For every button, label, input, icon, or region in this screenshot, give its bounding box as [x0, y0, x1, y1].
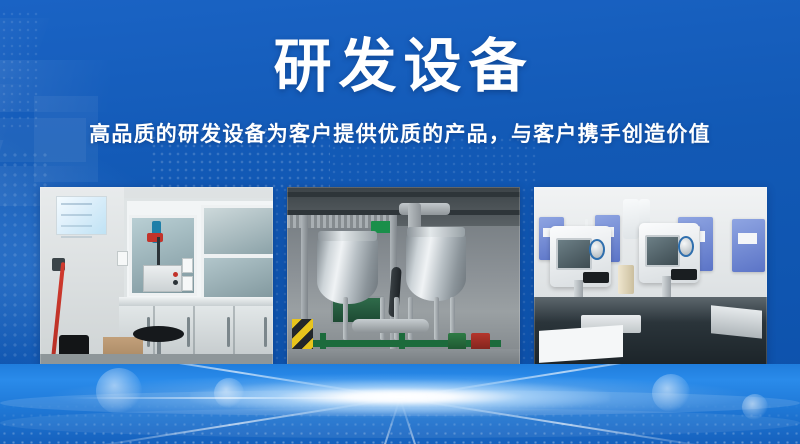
page-subtitle: 高品质的研发设备为客户提供优质的产品，与客户携手创造价值	[0, 122, 800, 148]
lab-stool	[133, 326, 184, 342]
fume-hood-glass-upper-right	[201, 205, 273, 257]
viscometer-left-screen	[556, 238, 592, 270]
power-socket-2	[182, 276, 193, 291]
bottom-dot-matrix	[0, 402, 800, 444]
wall-control-panel-4	[732, 219, 765, 272]
equipment-photo-gallery	[40, 187, 767, 365]
ceiling-beam-1	[287, 192, 520, 197]
photo-lab-fume-hood[interactable]	[40, 187, 273, 365]
cabinet-handle-4	[264, 317, 267, 347]
cabinet-handle-2	[187, 317, 190, 347]
control-unit	[143, 265, 182, 292]
reagent-bottle	[618, 265, 634, 293]
viscometer-left-clamp	[583, 272, 609, 283]
wall-dispenser	[623, 199, 639, 238]
exhaust-duct-horizontal	[399, 203, 450, 215]
process-pipe-5	[434, 297, 439, 340]
pipe-manifold	[352, 319, 429, 333]
power-socket-1	[182, 258, 193, 273]
reactor-lid-right	[407, 227, 465, 237]
viscometer-right-knob	[678, 236, 694, 257]
reactor-lid-left	[318, 231, 376, 241]
power-socket-3	[117, 251, 128, 266]
bench-paper-sheet	[539, 325, 623, 363]
workshop-floor	[287, 349, 520, 365]
photo-reactor-vessels-image	[287, 187, 520, 365]
lab-bench-top	[119, 297, 273, 306]
photo-testing-instruments-image	[534, 187, 767, 365]
viscometer-right-clamp	[671, 269, 697, 280]
stirrer-head	[147, 233, 163, 242]
bench-laptop	[711, 305, 762, 339]
bottom-light-burst	[0, 364, 800, 444]
reactor-vessel-right	[406, 233, 467, 301]
cabinet-handle-3	[227, 317, 230, 347]
page-title: 研发设备	[0, 36, 800, 98]
process-pipe-1	[343, 297, 348, 340]
photo-testing-instruments[interactable]	[534, 187, 767, 365]
viscometer-right-screen	[645, 235, 681, 267]
photo-lab-fume-hood-image	[40, 187, 273, 365]
reactor-vessel-left	[317, 237, 378, 305]
photo-reactor-vessels[interactable]	[287, 187, 520, 365]
wall-poster	[56, 196, 107, 235]
research-equipment-banner: 研发设备 高品质的研发设备为客户提供优质的产品，与客户携手创造价值	[0, 0, 800, 444]
viscometer-left-knob	[589, 239, 605, 260]
